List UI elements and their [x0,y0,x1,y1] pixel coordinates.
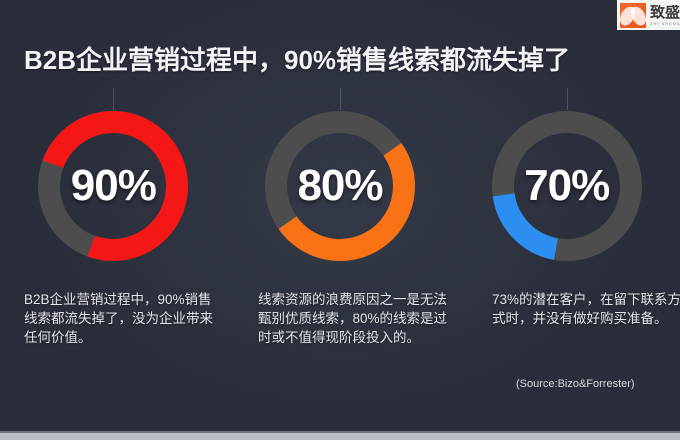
donut-cell-3: 70% [453,96,680,276]
donut-cell-2: 80% [227,96,454,276]
donut-80: 80% [256,102,424,270]
logo-subtext: ZHI SHENG [650,22,680,26]
caption-cell-3: 73%的潜在客户，在留下联系方式时，并没有做好购买准备。 (Source:Biz… [468,290,680,400]
caption-cell-2: 线索资源的浪费原因之一是无法甄别优质线索，80%的线索是过时或不值得现阶段投入的… [234,290,468,400]
donut-cell-1: 90% [0,96,227,276]
brand-logo: 致盛 ZHI SHENG [617,0,680,30]
caption-text-2: 线索资源的浪费原因之一是无法甄别优质线索，80%的线索是过时或不值得现阶段投入的… [258,290,458,347]
logo-wordmark: 致盛 ZHI SHENG [650,5,680,26]
caption-cell-1: B2B企业营销过程中，90%销售线索都流失掉了，没为企业带来任何价值。 [0,290,234,400]
infographic-slide: 致盛 ZHI SHENG B2B企业营销过程中，90%销售线索都流失掉了 90% [0,0,680,440]
logo-mark-icon [620,3,646,28]
donut-90: 90% [29,102,197,270]
donut-70: 70% [483,102,651,270]
donut-70-value: 70% [483,102,651,270]
page-title: B2B企业营销过程中，90%销售线索都流失掉了 [24,40,570,77]
logo-text: 致盛 [650,5,680,21]
caption-text-3: 73%的潜在客户，在留下联系方式时，并没有做好购买准备。 [492,290,680,328]
bottom-strip [0,433,680,440]
source-attribution: (Source:Bizo&Forrester) [516,378,635,390]
donut-90-value: 90% [29,102,197,270]
caption-text-1: B2B企业营销过程中，90%销售线索都流失掉了，没为企业带来任何价值。 [24,290,224,347]
donut-chart-row: 90% 80% 70% [0,96,680,276]
caption-row: B2B企业营销过程中，90%销售线索都流失掉了，没为企业带来任何价值。 线索资源… [0,290,680,400]
donut-80-value: 80% [256,102,424,270]
